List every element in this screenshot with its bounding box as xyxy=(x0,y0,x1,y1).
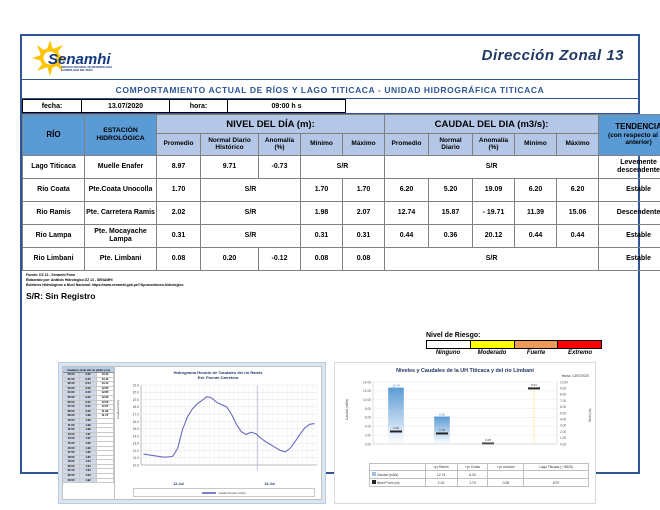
note-sin-registro: S/R: Sin Registro xyxy=(26,291,638,301)
hidrograma-plot: Hidrograma Horario de Caudales del rio R… xyxy=(115,367,321,499)
side-table-cell: 2.02 xyxy=(80,396,97,400)
cell-nivel-minmax: S/R xyxy=(301,156,385,179)
side-table-cell: 18:00 xyxy=(63,456,80,460)
th-nivel-promedio: Promedio xyxy=(157,134,201,156)
niveles-plot: 14.0012.0010.008.006.004.002.000.0010.00… xyxy=(339,376,591,462)
table-row: Rio Lampa Pte. Mocayache Lampa 0.31 S/R … xyxy=(23,225,660,248)
side-table-cell: 1.99 xyxy=(80,419,97,423)
svg-text:8.00: 8.00 xyxy=(560,393,566,397)
side-table-cell: 05:00 xyxy=(63,396,80,400)
cell-estacion: Pte.Coata Unocolla xyxy=(85,179,157,202)
risk-label-moderado: Moderado xyxy=(470,350,514,356)
svg-text:13.0: 13.0 xyxy=(133,442,139,446)
svg-text:15.0: 15.0 xyxy=(133,427,139,431)
hora-label: hora: xyxy=(170,99,228,113)
niveles-row-label-caudal: Caudal (m3/s) xyxy=(370,471,426,479)
niveles-cat-1: r.jo Coata xyxy=(457,464,488,471)
cell-rio: Lago Titicaca xyxy=(23,156,85,179)
side-table-row: 23:001.92 xyxy=(63,479,114,484)
niveles-table-row-caudal: Caudal (m3/s) 12.74 6.20 xyxy=(370,471,589,479)
svg-text:3.00: 3.00 xyxy=(560,424,566,428)
side-table-cell: 1.93 xyxy=(80,469,97,473)
risk-legend-labels: Ninguno Moderado Fuerte Extremo xyxy=(426,350,602,356)
th-nivel-minimo: Mínimo xyxy=(301,134,343,156)
side-table-cell: 2.05 xyxy=(80,378,97,382)
svg-text:14.00: 14.00 xyxy=(363,380,371,384)
side-table-cell: 12:00 xyxy=(63,428,80,432)
risk-legend-bar xyxy=(426,340,602,349)
side-table-cell: 15:00 xyxy=(63,442,80,446)
side-table-cell: 11.70 xyxy=(97,414,114,418)
cell-nivel-minimo: 1.98 xyxy=(301,202,343,225)
svg-text:9.00: 9.00 xyxy=(560,387,566,391)
th-tendencia-sub: (con respecto al día anterior) xyxy=(600,132,660,147)
svg-text:19.0: 19.0 xyxy=(133,398,139,402)
svg-text:2.00: 2.00 xyxy=(365,433,371,437)
side-table-cell: 1.95 xyxy=(80,451,97,455)
side-table-cell xyxy=(97,428,114,432)
fecha-label: fecha: xyxy=(22,99,82,113)
side-table-cell: 12.56 xyxy=(97,401,114,405)
svg-text:2.02: 2.02 xyxy=(393,426,399,430)
side-table-cell: 2.01 xyxy=(80,405,97,409)
side-table-cell: 12.85 xyxy=(97,391,114,395)
risk-swatch-fuerte xyxy=(515,341,559,348)
svg-text:4.00: 4.00 xyxy=(365,425,371,429)
svg-text:6.20: 6.20 xyxy=(439,412,445,416)
cell-caudal-maximo: 6.20 xyxy=(557,179,599,202)
zone-title: Dirección Zonal 13 xyxy=(482,47,624,64)
side-table-cell: 01:00 xyxy=(63,378,80,382)
side-table-cell xyxy=(97,479,114,483)
cell-caudal-maximo: 15.06 xyxy=(557,202,599,225)
th-nivel-normal-hist: Normal Diario Histórico xyxy=(201,134,259,156)
niveles-val-nivel-2: 0.08 xyxy=(488,479,524,487)
side-table-cell: 2.04 xyxy=(80,382,97,386)
side-table-cell: 17:00 xyxy=(63,451,80,455)
side-table-cell: 2.03 xyxy=(80,391,97,395)
side-table-cell xyxy=(97,419,114,423)
svg-text:8.00: 8.00 xyxy=(365,407,371,411)
side-table-cell: 2.05 xyxy=(80,373,97,377)
cell-caudal-merged: S/R xyxy=(385,248,599,271)
side-table-cell: 23:00 xyxy=(63,479,80,483)
side-table-cell: 03:00 xyxy=(63,387,80,391)
cell-nivel-promedio: 1.70 xyxy=(157,179,201,202)
svg-text:0.00: 0.00 xyxy=(560,442,566,446)
niveles-corner-cell xyxy=(370,464,426,471)
hidrograma-xtick-0: 12-Jul xyxy=(173,482,183,486)
th-tendencia: TENDENCIA (con respecto al día anterior) xyxy=(599,115,660,156)
series-swatch-caudal xyxy=(372,472,376,476)
cell-nivel-promedio: 8.97 xyxy=(157,156,201,179)
svg-text:8.97: 8.97 xyxy=(531,383,537,387)
side-table-cell xyxy=(97,460,114,464)
cell-tendencia: Estable xyxy=(599,225,660,248)
th-caudal-promedio: Promedio xyxy=(385,134,429,156)
date-time-bar: fecha: 13.07/2020 hora: 09:00 h s xyxy=(22,99,638,114)
series-label-nivel: Nivel Prom (m) xyxy=(377,481,400,485)
cell-caudal-minimo: 6.20 xyxy=(515,179,557,202)
cell-nivel-maximo: 1.70 xyxy=(343,179,385,202)
cell-caudal-minimo: 11.39 xyxy=(515,202,557,225)
cell-nivel-anomalia: -0.73 xyxy=(259,156,301,179)
side-table-cell xyxy=(97,474,114,478)
side-table-cell: 09:00 xyxy=(63,414,80,418)
side-table-cell: 11:00 xyxy=(63,424,80,428)
side-table-cell: 19:00 xyxy=(63,460,80,464)
cell-caudal-normal: 15.87 xyxy=(429,202,473,225)
svg-text:16.0: 16.0 xyxy=(133,420,139,424)
th-nivel-maximo: Máximo xyxy=(343,134,385,156)
niveles-row-label-nivel: Nivel Prom (m) xyxy=(370,479,426,487)
side-table-cell: 13.43 xyxy=(97,373,114,377)
side-table-cell: 1.94 xyxy=(80,460,97,464)
th-caudal-minimo: Mínimo xyxy=(515,134,557,156)
niveles-cat-3: Lago Titicaca (+ 8820) xyxy=(524,464,589,471)
cell-caudal-promedio: 6.20 xyxy=(385,179,429,202)
side-table-cell: 1.96 xyxy=(80,442,97,446)
hidrograma-legend: Caudal horario (m3/s) xyxy=(133,488,315,497)
cell-rio: Rio Lampa xyxy=(23,225,85,248)
side-table-cell: 1.93 xyxy=(80,474,97,478)
side-table-cell: 21:00 xyxy=(63,469,80,473)
hidrograma-side-table: Caudal y nivel del río (m3/s y m) 00:002… xyxy=(63,367,115,499)
cell-rio: Rio Limbani xyxy=(23,248,85,271)
svg-text:10.00: 10.00 xyxy=(363,398,371,402)
cell-nivel-anomalia: -0.12 xyxy=(259,248,301,271)
svg-text:1.00: 1.00 xyxy=(560,436,566,440)
cell-nivel-minimo: 0.08 xyxy=(301,248,343,271)
svg-text:5.00: 5.00 xyxy=(560,411,566,415)
hidrograma-xtick-1: 13-Jul xyxy=(264,482,274,486)
hora-value: 09:00 h s xyxy=(228,99,346,113)
svg-text:14.0: 14.0 xyxy=(133,434,139,438)
side-table-cell xyxy=(97,451,114,455)
side-table-cell: 13.14 xyxy=(97,382,114,386)
th-estacion: ESTACIÓN HIDROLÓGICA xyxy=(85,115,157,156)
svg-text:Senamhi: Senamhi xyxy=(48,51,111,68)
side-table-cell: 1.96 xyxy=(80,447,97,451)
side-table-cell: 2.02 xyxy=(80,401,97,405)
side-table-cell: 1.97 xyxy=(80,437,97,441)
side-table-cell xyxy=(97,465,114,469)
hidrograma-svg: 21.020.019.018.017.016.015.014.013.012.0… xyxy=(115,381,323,489)
th-group-caudal: CAUDAL DEL DIA (m3/s): xyxy=(385,115,599,134)
hidrograma-subtitle: Est. Puente Carretera xyxy=(115,375,321,380)
th-caudal-anomalia: Anomalía (%) xyxy=(473,134,515,156)
cell-estacion: Pte. Limbani xyxy=(85,248,157,271)
table-header-group-row: RÍO ESTACIÓN HIDROLÓGICA NIVEL DEL DÍA (… xyxy=(23,115,660,134)
cell-caudal-minimo: 0.44 xyxy=(515,225,557,248)
cell-caudal-promedio: 12.74 xyxy=(385,202,429,225)
cell-caudal-normal: 5.20 xyxy=(429,179,473,202)
side-table-cell: 1.98 xyxy=(80,424,97,428)
cell-caudal-anomalia: 19.09 xyxy=(473,179,515,202)
niveles-data-table: r.jo Ramis r.jo Coata r.jo Limbani Lago … xyxy=(369,463,589,487)
side-table-cell: 06:00 xyxy=(63,401,80,405)
hidrograma-inner: Caudal y nivel del río (m3/s y m) 00:002… xyxy=(62,366,322,500)
side-table-cell: 1.94 xyxy=(80,465,97,469)
cell-nivel-promedio: 0.08 xyxy=(157,248,201,271)
svg-text:4.00: 4.00 xyxy=(560,418,566,422)
niveles-val-nivel-0: 2.02 xyxy=(425,479,457,487)
side-table-cell: 00:00 xyxy=(63,373,80,377)
svg-text:10.0: 10.0 xyxy=(133,463,139,467)
hydro-data-table: RÍO ESTACIÓN HIDROLÓGICA NIVEL DEL DÍA (… xyxy=(22,114,660,271)
cell-nivel-promedio: 2.02 xyxy=(157,202,201,225)
cell-estacion: Pte. Mocayache Lampa xyxy=(85,225,157,248)
side-table-cell: 1.99 xyxy=(80,414,97,418)
svg-text:17.0: 17.0 xyxy=(133,412,139,416)
side-table-cell: 1.98 xyxy=(80,428,97,432)
niveles-title: Niveles y Caudales de la UH Titicaca y d… xyxy=(337,365,593,374)
side-table-cell: 22:00 xyxy=(63,474,80,478)
cell-tendencia: Levemente descendente xyxy=(599,156,660,179)
hidrograma-title: Hidrograma Horario de Caudales del rio R… xyxy=(115,367,321,375)
niveles-val-nivel-1: 1.70 xyxy=(457,479,488,487)
hidrograma-legend-label: Caudal horario (m3/s) xyxy=(218,491,245,495)
svg-text:E HIDROLOGÍA DEL PERÚ: E HIDROLOGÍA DEL PERÚ xyxy=(61,69,93,72)
chart-niveles-caudales: Niveles y Caudales de la UH Titicaca y d… xyxy=(334,362,596,504)
side-table-cell: 1.92 xyxy=(80,479,97,483)
side-table-cell xyxy=(97,447,114,451)
legend-line-swatch xyxy=(202,491,216,495)
table-row: Lago Titicaca Muelle Enafer 8.97 9.71 -0… xyxy=(23,156,660,179)
side-table-cell: 20:00 xyxy=(63,465,80,469)
side-table-cell: 1.95 xyxy=(80,456,97,460)
report-header: Senamhi SERVICIO NACIONAL DE METEOROLOGÍ… xyxy=(22,36,638,80)
svg-text:1.70: 1.70 xyxy=(439,428,445,432)
niveles-cat-2: r.jo Limbani xyxy=(488,464,524,471)
risk-swatch-moderado xyxy=(471,341,515,348)
svg-text:Caudal (m3/s): Caudal (m3/s) xyxy=(345,399,349,420)
niveles-val-caudal-1: 6.20 xyxy=(457,471,488,479)
cell-nivel-promedio: 0.31 xyxy=(157,225,201,248)
side-table-cell: 11.99 xyxy=(97,410,114,414)
chart-hidrograma-ramis: Caudal y nivel del río (m3/s y m) 00:002… xyxy=(58,362,326,504)
side-table-cell xyxy=(97,456,114,460)
th-caudal-normal-diario: Normal Diario xyxy=(429,134,473,156)
side-table-cell: 2.00 xyxy=(80,410,97,414)
niveles-val-caudal-0: 12.74 xyxy=(425,471,457,479)
hidrograma-xlabels: 12-Jul 13-Jul xyxy=(133,482,315,486)
risk-legend-title: Nivel de Riesgo: xyxy=(426,332,602,339)
side-table-cell: 08:00 xyxy=(63,410,80,414)
report-page: Senamhi SERVICIO NACIONAL DE METEOROLOGÍ… xyxy=(0,0,660,510)
risk-label-extremo: Extremo xyxy=(558,350,602,356)
cell-rio: Rio Coata xyxy=(23,179,85,202)
table-row: Rio Limbani Pte. Limbani 0.08 0.20 -0.12… xyxy=(23,248,660,271)
cell-estacion: Pte. Carretera Ramis xyxy=(85,202,157,225)
side-table-cell: 12.27 xyxy=(97,405,114,409)
cell-tendencia: Estable xyxy=(599,248,660,271)
niveles-svg: 14.0012.0010.008.006.004.002.000.0010.00… xyxy=(339,376,595,462)
cell-nivel-maximo: 2.07 xyxy=(343,202,385,225)
svg-text:20.0: 20.0 xyxy=(133,391,139,395)
niveles-val-caudal-3 xyxy=(524,471,589,479)
cell-nivel-maximo: 0.08 xyxy=(343,248,385,271)
th-tendencia-main: TENDENCIA xyxy=(600,123,660,132)
side-table-cell: 10:00 xyxy=(63,419,80,423)
cell-nivel-minimo: 0.31 xyxy=(301,225,343,248)
cell-caudal-normal: 0.36 xyxy=(429,225,473,248)
cell-caudal-anomalia: - 19.71 xyxy=(473,202,515,225)
side-table-cell xyxy=(97,437,114,441)
th-caudal-maximo: Máximo xyxy=(557,134,599,156)
date-bar-spacer xyxy=(346,99,638,113)
side-table-cell: 1.97 xyxy=(80,433,97,437)
niveles-cat-0: r.jo Ramis xyxy=(425,464,457,471)
side-table-cell xyxy=(97,424,114,428)
report-frame: Senamhi SERVICIO NACIONAL DE METEOROLOGÍ… xyxy=(20,34,640,474)
side-table-cell: 13:00 xyxy=(63,433,80,437)
note-boletines: Boletines Hidrológicos a Nivel Nacional:… xyxy=(26,283,638,288)
risk-label-fuerte: Fuerte xyxy=(514,350,558,356)
svg-text:12.74: 12.74 xyxy=(392,383,400,387)
cell-caudal-maximo: 0.44 xyxy=(557,225,599,248)
svg-text:12.0: 12.0 xyxy=(133,449,139,453)
svg-text:18.0: 18.0 xyxy=(133,405,139,409)
niveles-table-row-nivel: Nivel Prom (m) 2.02 1.70 0.08 8.97 xyxy=(370,479,589,487)
side-table-cell: 12.85 xyxy=(97,387,114,391)
risk-legend: Nivel de Riesgo: Ninguno Moderado Fuerte… xyxy=(426,332,602,356)
svg-text:0.00: 0.00 xyxy=(365,442,371,446)
side-table-cell: 13.43 xyxy=(97,378,114,382)
svg-text:10.00: 10.00 xyxy=(560,380,568,384)
senamhi-logo: Senamhi SERVICIO NACIONAL DE METEOROLOGÍ… xyxy=(28,39,140,77)
risk-swatch-ninguno xyxy=(427,341,471,348)
side-table-rows: 00:002.0513.4301:002.0513.4302:002.0413.… xyxy=(63,373,114,483)
side-table-cell xyxy=(97,442,114,446)
risk-label-ninguno: Ninguno xyxy=(426,350,470,356)
table-row: Rio Coata Pte.Coata Unocolla 1.70 S/R 1.… xyxy=(23,179,660,202)
side-table-cell xyxy=(97,433,114,437)
niveles-val-caudal-2 xyxy=(488,471,524,479)
svg-text:12.00: 12.00 xyxy=(363,389,371,393)
side-table-cell: 2.03 xyxy=(80,387,97,391)
page-title: COMPORTAMIENTO ACTUAL DE RÍOS Y LAGO TIT… xyxy=(22,80,638,99)
cell-estacion: Muelle Enafer xyxy=(85,156,157,179)
cell-tendencia: Estable xyxy=(599,179,660,202)
side-table-cell: 04:00 xyxy=(63,391,80,395)
niveles-table-header: r.jo Ramis r.jo Coata r.jo Limbani Lago … xyxy=(370,464,589,471)
svg-text:21.0: 21.0 xyxy=(133,383,139,387)
svg-text:11.0: 11.0 xyxy=(133,456,139,460)
side-table-cell: 16:00 xyxy=(63,447,80,451)
series-swatch-nivel xyxy=(372,480,376,484)
svg-text:0.08: 0.08 xyxy=(485,438,491,442)
fecha-value: 13.07/2020 xyxy=(82,99,170,113)
cell-nivel-minimo: 1.70 xyxy=(301,179,343,202)
table-row: Rio Ramis Pte. Carretera Ramis 2.02 S/R … xyxy=(23,202,660,225)
cell-nivel-maximo: 0.31 xyxy=(343,225,385,248)
series-label-caudal: Caudal (m3/s) xyxy=(377,473,398,477)
side-table-cell: 12.56 xyxy=(97,396,114,400)
svg-text:Nivel (m): Nivel (m) xyxy=(588,408,592,422)
side-table-cell: 14:00 xyxy=(63,437,80,441)
cell-caudal-promedio: 0.44 xyxy=(385,225,429,248)
cell-nivel-normal: 9.71 xyxy=(201,156,259,179)
svg-text:6.00: 6.00 xyxy=(365,416,371,420)
cell-nivel-normal-anomalia: S/R xyxy=(201,225,301,248)
cell-rio: Rio Ramis xyxy=(23,202,85,225)
cell-caudal-merged: S/R xyxy=(385,156,599,179)
svg-text:6.00: 6.00 xyxy=(560,405,566,409)
side-table-cell: 07:00 xyxy=(63,405,80,409)
svg-text:7.00: 7.00 xyxy=(560,399,566,403)
th-rio: RÍO xyxy=(23,115,85,156)
side-table-cell: 02:00 xyxy=(63,382,80,386)
cell-nivel-normal-anomalia: S/R xyxy=(201,202,301,225)
footnotes: Fuente: DZ 13 - Senamhi Puno Elaborado p… xyxy=(22,271,638,301)
cell-caudal-anomalia: 20.12 xyxy=(473,225,515,248)
cell-nivel-normal: 0.20 xyxy=(201,248,259,271)
risk-swatch-extremo xyxy=(558,341,601,348)
svg-text:2.00: 2.00 xyxy=(560,430,566,434)
cell-nivel-normal-anomalia: S/R xyxy=(201,179,301,202)
cell-tendencia: Descendente xyxy=(599,202,660,225)
niveles-val-nivel-3: 8.97 xyxy=(524,479,589,487)
th-nivel-anomalia: Anomalía (%) xyxy=(259,134,301,156)
th-group-nivel: NIVEL DEL DÍA (m): xyxy=(157,115,385,134)
side-table-cell xyxy=(97,469,114,473)
